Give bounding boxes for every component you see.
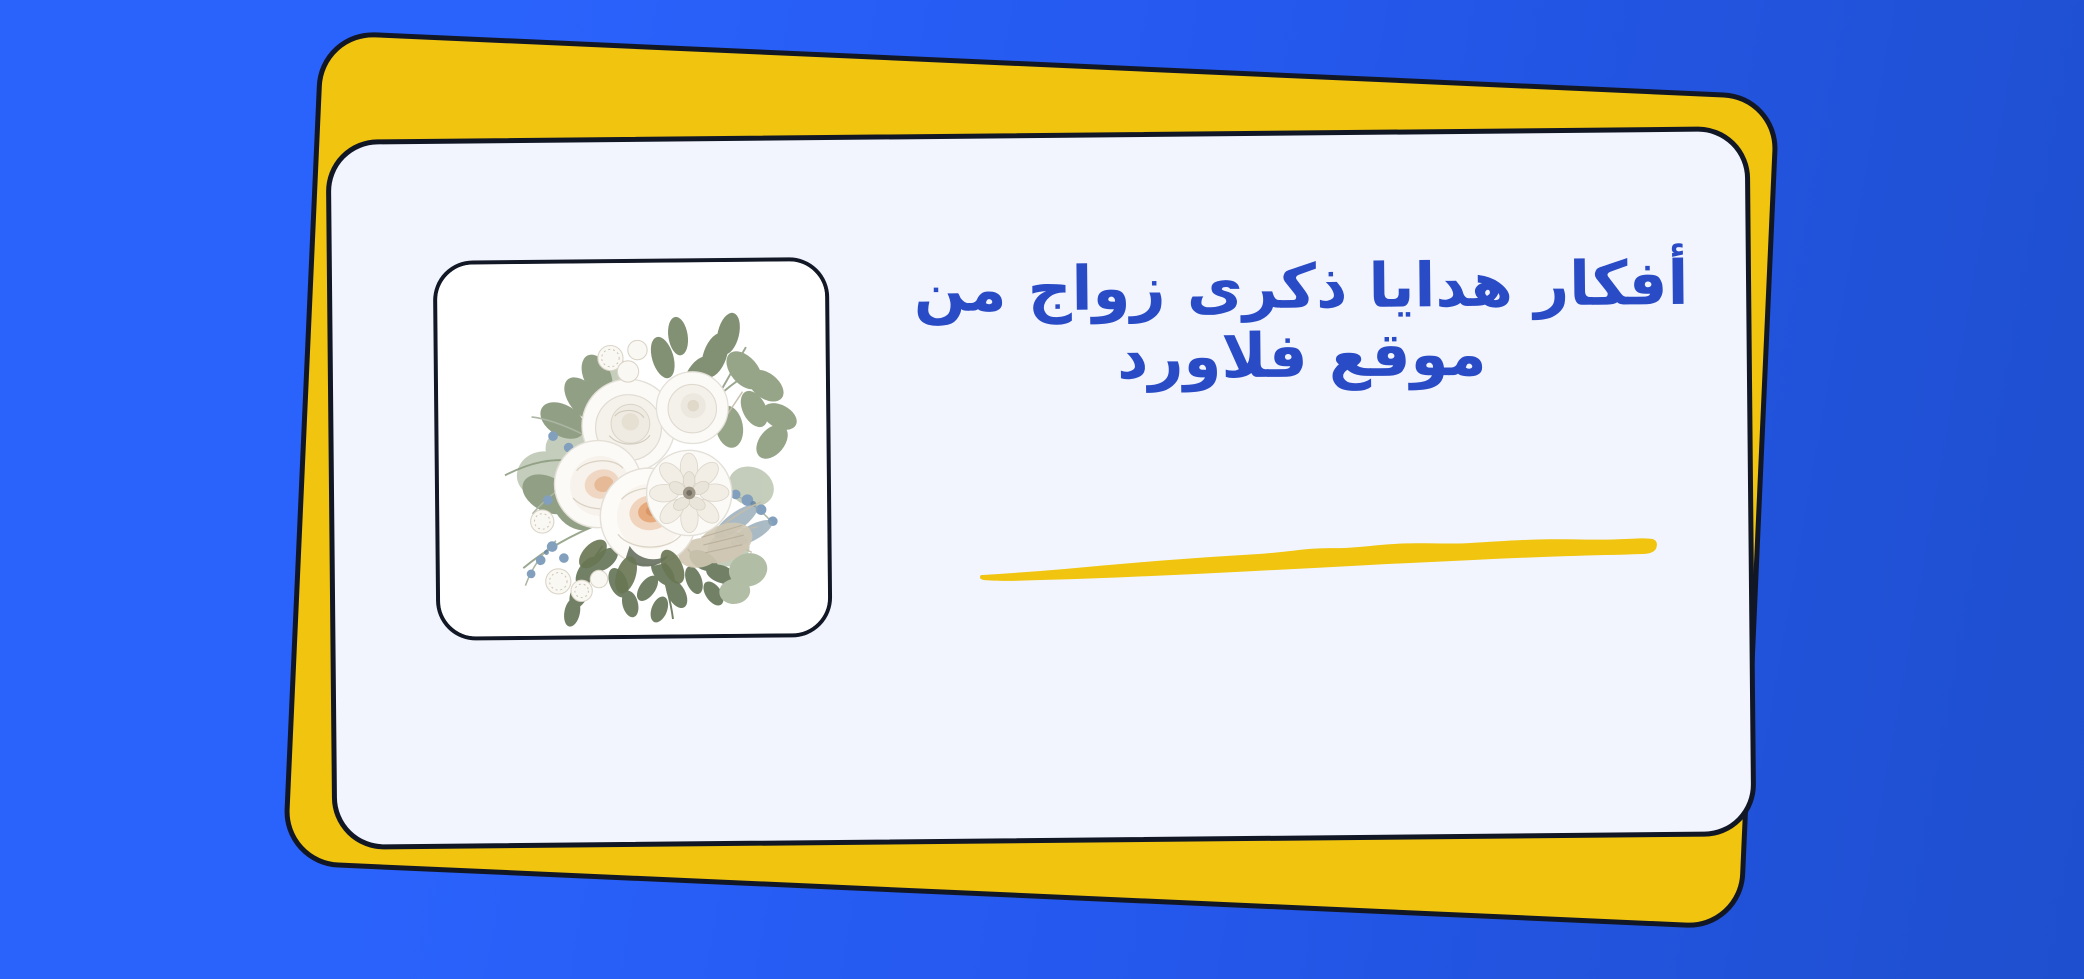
slide-canvas: أفكار هدايا ذكرى زواج من موقع فلاورد: [0, 0, 2084, 979]
brush-stroke-shape: [978, 524, 1659, 595]
white-content-card: أفكار هدايا ذكرى زواج من موقع فلاورد: [326, 126, 1757, 850]
card-content-row: أفكار هدايا ذكرى زواج من موقع فلاورد: [331, 131, 1752, 845]
yellow-brush-underline: [978, 524, 1659, 595]
bouquet-photo-frame: [433, 257, 833, 641]
flower-bouquet-illustration: [437, 261, 829, 637]
headline-block: أفكار هدايا ذكرى زواج من موقع فلاورد: [896, 250, 1707, 396]
page-title: أفكار هدايا ذكرى زواج من موقع فلاورد: [896, 250, 1707, 396]
